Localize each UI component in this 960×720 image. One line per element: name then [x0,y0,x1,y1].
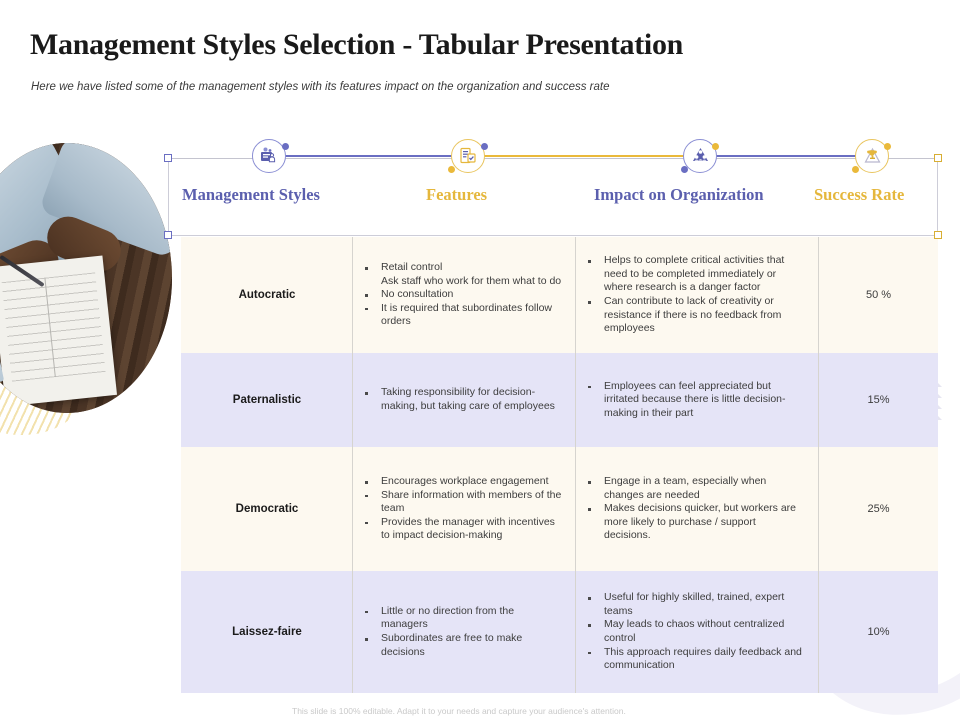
accent-dot-4b [852,166,859,173]
features-list: Taking responsibility for decision-makin… [353,386,576,413]
accent-dot-3 [712,143,719,150]
accent-dot-3b [681,166,688,173]
style-name: Paternalistic [233,394,301,406]
style-name: Laissez-faire [232,626,302,638]
features-list: Retail control Ask staff who work for th… [353,261,576,329]
list-item: Encourages workplace engagement [381,475,562,489]
impact-list: Helps to complete critical activities th… [576,254,819,336]
list-item: Useful for highly skilled, trained, expe… [604,591,805,618]
frame-handle-top-right[interactable] [934,154,942,162]
frame-handle-bottom-left[interactable] [164,231,172,239]
cell-success-rate: 50 % [819,237,938,353]
list-item: Retail control [381,261,562,275]
features-list: Little or no direction from the managers… [353,605,576,659]
list-item: Helps to complete critical activities th… [604,254,805,295]
cell-features: Little or no direction from the managers… [353,571,576,693]
slide-canvas: Management Styles Selection - Tabular Pr… [0,0,960,720]
list-item: Provides the manager with incentives to … [381,516,562,543]
cell-impact: Helps to complete critical activities th… [576,237,819,353]
cell-style: Democratic [181,447,353,571]
accent-dot-1 [282,143,289,150]
table-row: Autocratic Retail control Ask staff who … [181,237,938,353]
column-header-features: Features [426,185,487,205]
presentation-screen-icon[interactable] [252,139,286,173]
list-item: This approach requires daily feedback an… [604,646,805,673]
table-row: Democratic Encourages workplace engageme… [181,447,938,571]
column-header-management-styles: Management Styles [182,185,320,205]
cell-impact: Engage in a team, especially when change… [576,447,819,571]
cell-success-rate: 10% [819,571,938,693]
person-writing-on-document-photo [0,143,172,413]
style-name: Autocratic [239,289,296,301]
impact-list: Engage in a team, especially when change… [576,475,819,543]
impact-list: Employees can feel appreciated but irrit… [576,380,819,421]
success-rate-value: 15% [867,394,889,406]
style-name: Democratic [236,503,299,515]
column-header-success-rate: Success Rate [814,185,904,205]
success-rate-value: 25% [867,503,889,515]
footer-note: This slide is 100% editable. Adapt it to… [292,706,626,716]
cell-features: Encourages workplace engagement Share in… [353,447,576,571]
cell-features: Taking responsibility for decision-makin… [353,353,576,447]
table-row: Paternalistic Taking responsibility for … [181,353,938,447]
accent-dot-2b [448,166,455,173]
accent-dot-2 [481,143,488,150]
cell-success-rate: 15% [819,353,938,447]
connector-line-3 [700,155,872,157]
cell-impact: Useful for highly skilled, trained, expe… [576,571,819,693]
list-item: Makes decisions quicker, but workers are… [604,502,805,543]
success-rate-value: 10% [867,626,889,638]
list-item: Taking responsibility for decision-makin… [381,386,562,413]
management-styles-table: Autocratic Retail control Ask staff who … [181,237,938,693]
accent-dot-4 [884,143,891,150]
cell-success-rate: 25% [819,447,938,571]
frame-handle-bottom-right[interactable] [934,231,942,239]
cell-impact: Employees can feel appreciated but irrit… [576,353,819,447]
cell-style: Paternalistic [181,353,353,447]
success-rate-value: 50 % [866,289,891,301]
connector-line-2 [468,155,700,157]
list-item: Ask staff who work for them what to do [381,275,562,289]
cell-style: Autocratic [181,237,353,353]
list-item: No consultation [381,288,562,302]
list-item: Can contribute to lack of creativity or … [604,295,805,336]
list-item: Little or no direction from the managers [381,605,562,632]
list-item: It is required that subordinates follow … [381,302,562,329]
cell-features: Retail control Ask staff who work for th… [353,237,576,353]
paper-form [0,256,117,407]
document-checklist-icon[interactable] [451,139,485,173]
list-item: Engage in a team, especially when change… [604,475,805,502]
page-subtitle: Here we have listed some of the manageme… [31,81,610,93]
frame-handle-top-left[interactable] [164,154,172,162]
impact-list: Useful for highly skilled, trained, expe… [576,591,819,673]
table-row: Laissez-faire Little or no direction fro… [181,571,938,693]
page-title: Management Styles Selection - Tabular Pr… [30,28,683,62]
list-item: Subordinates are free to make decisions [381,632,562,659]
list-item: May leads to chaos without centralized c… [604,618,805,645]
cell-style: Laissez-faire [181,571,353,693]
list-item: Employees can feel appreciated but irrit… [604,380,805,421]
list-item: Share information with members of the te… [381,489,562,516]
column-header-impact-on-organization: Impact on Organization [594,185,764,205]
features-list: Encourages workplace engagement Share in… [353,475,576,543]
connector-line-1 [268,155,468,157]
